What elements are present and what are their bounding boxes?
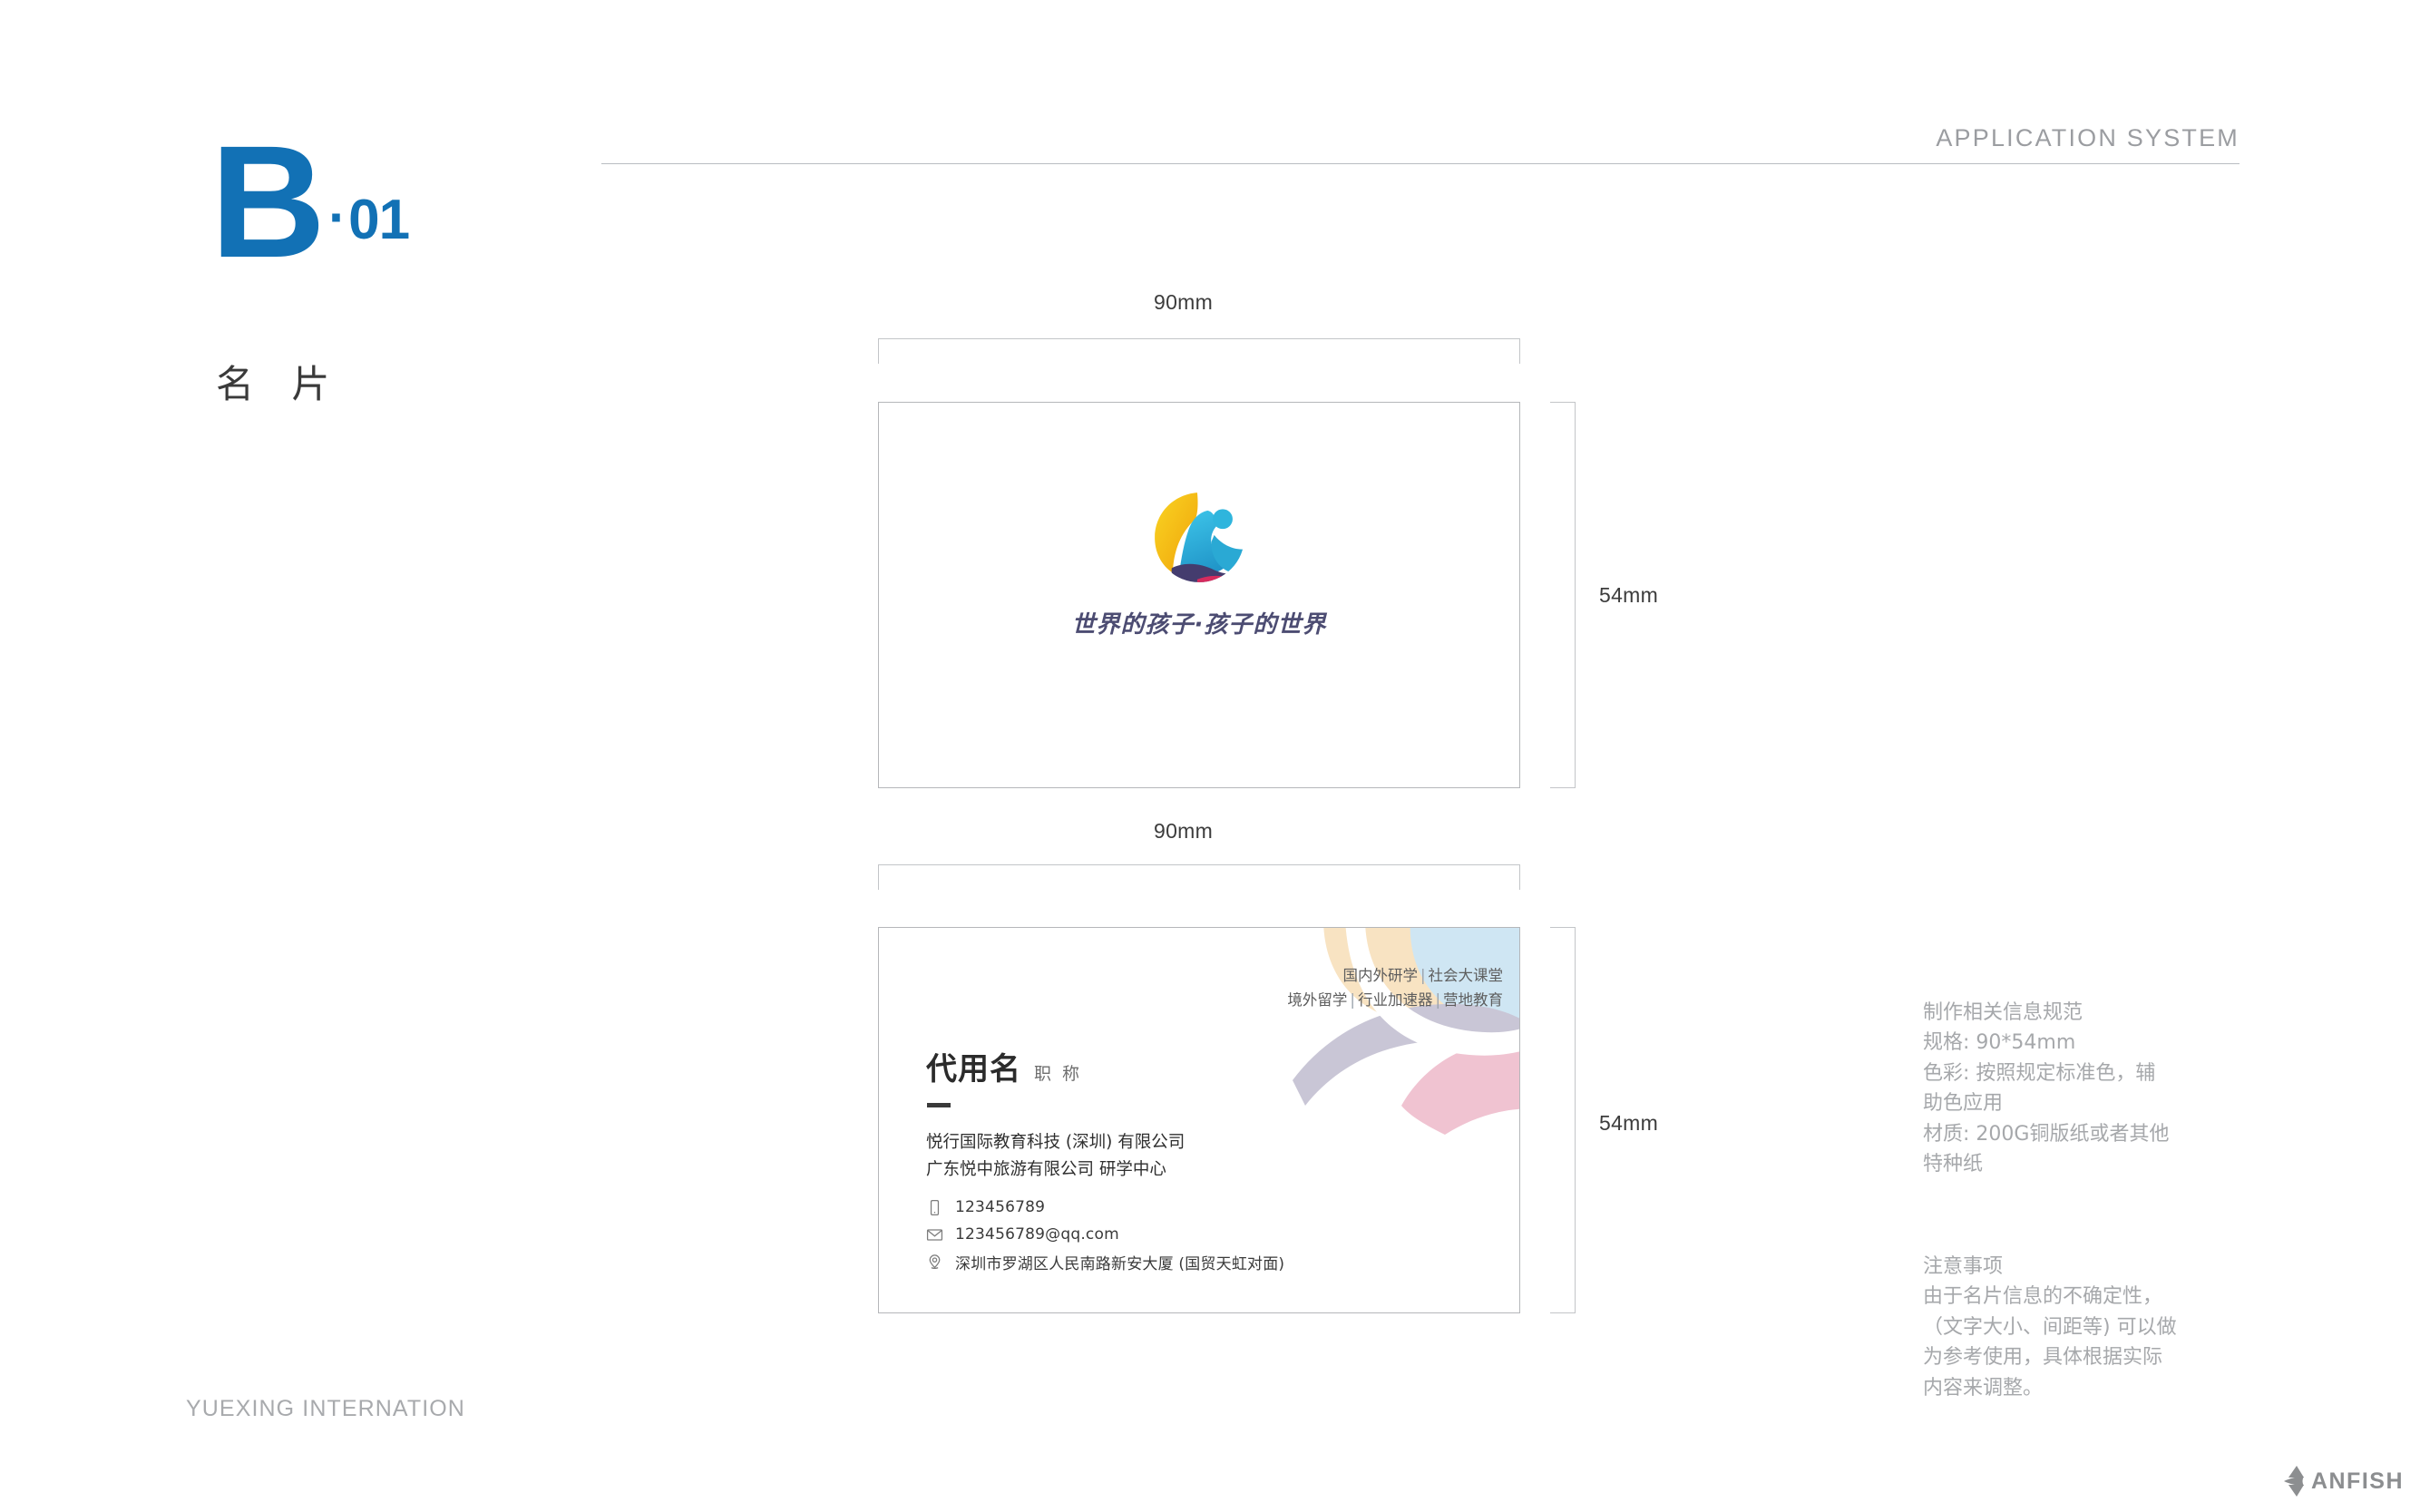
spec-line: 由于名片信息的不确定性， [1923,1282,2249,1312]
contact-row-phone: 123456789 [926,1195,1284,1219]
spec-line: 色彩: 按照规定标准色，辅 [1923,1058,2249,1088]
company-line-1: 悦行国际教育科技 (深圳) 有限公司 [926,1129,1185,1156]
service-item: 境外留学 [1287,991,1347,1009]
service-separator: | [1432,991,1443,1009]
back-company-block: 悦行国际教育科技 (深圳) 有限公司 广东悦中旅游有限公司 研学中心 [926,1129,1185,1184]
services-line-2: 境外留学|行业加速器|营地教育 [1287,989,1503,1013]
business-card-back: 国内外研学|社会大课堂 境外留学|行业加速器|营地教育 代用名 职 称 悦行国际… [878,927,1520,1313]
phone-icon [926,1199,943,1216]
back-height-bracket [1550,927,1576,1313]
section-number: 01 [348,192,409,249]
service-item: 国内外研学 [1342,967,1418,984]
section-mark: B · 01 [210,141,409,265]
front-logo-tagline: 世界的孩子·孩子的世界 [1072,606,1327,639]
service-item: 行业加速器 [1358,991,1433,1009]
service-separator: | [1418,967,1429,984]
front-logo-group: 世界的孩子·孩子的世界 [879,490,1519,639]
business-card-front: 世界的孩子·孩子的世界 [878,402,1520,788]
spec-line: 规格: 90*54mm [1923,1028,2249,1058]
contact-phone-value: 123456789 [955,1198,1045,1216]
back-width-bracket [878,864,1520,890]
services-line-1: 国内外研学|社会大课堂 [1287,964,1503,989]
front-width-bracket [878,338,1520,364]
back-name-row: 代用名 职 称 [926,1044,1082,1088]
envelope-icon [926,1226,943,1244]
back-height-label: 54mm [1599,1111,1658,1136]
front-height-bracket [1550,402,1576,788]
section-dot-separator: · [328,190,346,245]
contact-row-email: 123456789@qq.com [926,1223,1284,1246]
front-height-label: 54mm [1599,583,1658,608]
page-header-title: APPLICATION SYSTEM [1936,124,2239,152]
service-separator: | [1347,991,1358,1009]
spec-notes-cautions: 注意事项 由于名片信息的不确定性， （文字大小、间距等) 可以做 为参考使用，具… [1923,1252,2249,1403]
poster-page: APPLICATION SYSTEM B · 01 名 片 90mm 54mm [0,0,2420,1512]
footer-brand-name: YUEXING INTERNATION [186,1396,465,1422]
contact-address-value: 深圳市罗湖区人民南路新安大厦 (国贸天虹对面) [955,1251,1284,1273]
spec-line: 材质: 200G铜版纸或者其他 [1923,1119,2249,1149]
service-item: 营地教育 [1443,991,1503,1009]
company-line-2: 广东悦中旅游有限公司 研学中心 [926,1156,1185,1184]
spec-line: 注意事项 [1923,1252,2249,1282]
back-name-divider [927,1103,951,1107]
sanfish-wordmark: ANFISH [2311,1468,2404,1495]
spec-line: 特种纸 [1923,1149,2249,1179]
spec-line: （文字大小、间距等) 可以做 [1923,1312,2249,1342]
section-letter: B [210,141,323,265]
section-subtitle: 名 片 [216,354,342,409]
back-contact-block: 123456789 123456789@qq.com 深圳市罗湖区人民南路新安大… [926,1195,1284,1277]
spec-line: 为参考使用，具体根据实际 [1923,1342,2249,1372]
header-divider-rule [601,163,2239,164]
spec-line: 制作相关信息规范 [1923,998,2249,1028]
front-width-label: 90mm [1154,290,1213,315]
service-item: 社会大课堂 [1429,967,1504,984]
back-services-taglines: 国内外研学|社会大课堂 境外留学|行业加速器|营地教育 [1287,964,1503,1012]
contact-email-value: 123456789@qq.com [955,1225,1119,1244]
spec-line: 内容来调整。 [1923,1373,2249,1403]
card-holder-job-title: 职 称 [1034,1060,1082,1085]
card-holder-name: 代用名 [926,1044,1021,1088]
yuexing-circle-logo-icon [1152,490,1246,584]
sanfish-watermark: ANFISH [2277,1463,2404,1499]
location-pin-icon [926,1253,943,1271]
spec-line: 助色应用 [1923,1088,2249,1118]
back-width-label: 90mm [1154,819,1213,844]
spec-notes-production: 制作相关信息规范 规格: 90*54mm 色彩: 按照规定标准色，辅 助色应用 … [1923,998,2249,1180]
contact-row-address: 深圳市罗湖区人民南路新安大厦 (国贸天虹对面) [926,1250,1284,1273]
